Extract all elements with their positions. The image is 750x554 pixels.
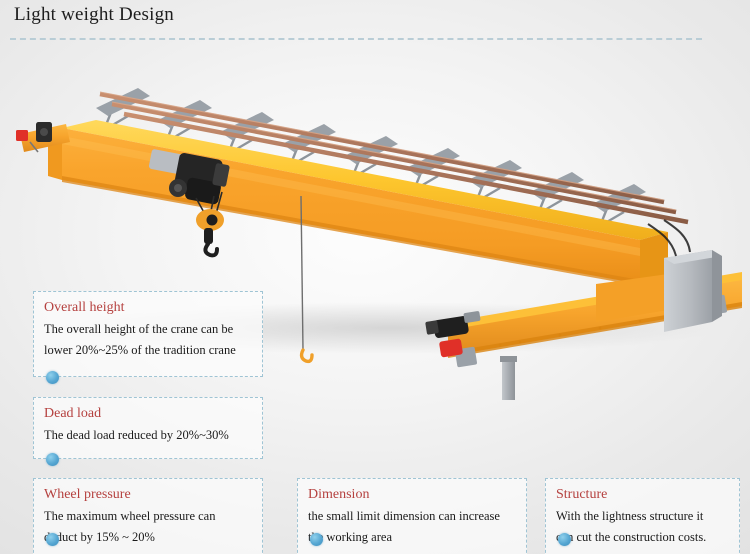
bullet-dot-icon [310, 533, 323, 546]
info-card-wheel-pressure[interactable]: Wheel pressure The maximum wheel pressur… [33, 478, 263, 554]
page-title: Light weight Design [14, 2, 174, 28]
bullet-dot-icon [46, 371, 59, 384]
info-card-line: The maximum wheel pressure can [44, 506, 252, 527]
bullet-dot-icon [46, 453, 59, 466]
hook-block [196, 209, 224, 255]
info-card-structure[interactable]: Structure With the lightness structure i… [545, 478, 740, 554]
slide-root: Light weight Design [0, 0, 750, 554]
info-card-line: The dead load reduced by 20%~30% [44, 425, 252, 446]
info-card-dead-load[interactable]: Dead load The dead load reduced by 20%~3… [33, 397, 263, 459]
info-card-dimension[interactable]: Dimension the small limit dimension can … [297, 478, 527, 554]
bullet-dot-icon [558, 533, 571, 546]
info-card-title: Overall height [44, 298, 252, 318]
info-card-line: deduct by 15% ~ 20% [44, 527, 252, 548]
info-card-line: can cut the construction costs. [556, 527, 729, 548]
title-divider [10, 38, 702, 40]
info-card-line: the small limit dimension can increase [308, 506, 516, 527]
info-card-line: lower 20%~25% of the tradition crane [44, 340, 252, 361]
rubber-buffer-right [439, 338, 463, 357]
info-card-overall-height[interactable]: Overall height The overall height of the… [33, 291, 263, 377]
electrical-control-panel [664, 250, 722, 332]
info-card-line: the working area [308, 527, 516, 548]
info-card-title: Wheel pressure [44, 485, 252, 505]
info-card-line: With the lightness structure it [556, 506, 729, 527]
info-card-line: The overall height of the crane can be [44, 319, 252, 340]
bullet-dot-icon [46, 533, 59, 546]
info-card-title: Dead load [44, 404, 252, 424]
rubber-buffer [16, 130, 28, 141]
runway-support-leg [500, 356, 517, 400]
info-card-title: Structure [556, 485, 729, 505]
info-card-title: Dimension [308, 485, 516, 505]
